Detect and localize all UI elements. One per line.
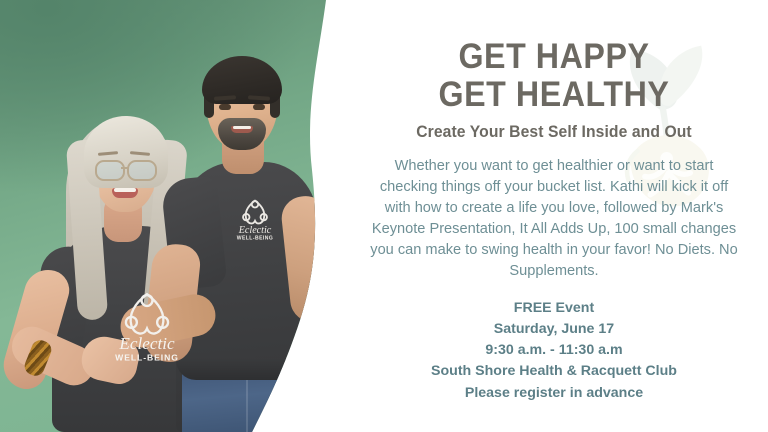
photo-curved-clip: Eclectic WELL-BEING Eclectic WELL-BEING bbox=[0, 0, 340, 432]
woman-teeth bbox=[114, 188, 136, 192]
man-eye-right bbox=[253, 104, 265, 110]
woman-eyeglass-right bbox=[127, 160, 157, 181]
photo-panel: Eclectic WELL-BEING Eclectic WELL-BEING bbox=[0, 0, 340, 432]
man-jeans-seam bbox=[246, 376, 248, 432]
shirt-logo-eclectic-wellbeing-small: Eclectic WELL-BEING bbox=[232, 196, 278, 242]
event-detail-venue: South Shore Health & Racquett Club bbox=[352, 361, 756, 382]
shirt-logo-name-small: Eclectic bbox=[238, 225, 272, 236]
event-detail-time: 9:30 a.m. - 11:30 a.m bbox=[352, 340, 756, 361]
shirt-logo-tagline: WELL-BEING bbox=[115, 353, 179, 363]
headline-line-2: GET HEALTHY bbox=[368, 76, 740, 114]
subtitle: Create Your Best Self Inside and Out bbox=[362, 123, 746, 142]
text-stack: GET HAPPY GET HEALTHY Create Your Best S… bbox=[340, 0, 768, 404]
man-jeans bbox=[182, 372, 314, 432]
event-detail-date: Saturday, June 17 bbox=[352, 319, 756, 340]
woman-eyeglass-bridge bbox=[121, 167, 129, 169]
shirt-logo-tagline-small: WELL-BEING bbox=[237, 236, 274, 242]
man-teeth bbox=[233, 126, 251, 129]
man-shirt-hem bbox=[176, 358, 318, 380]
man-eye-left bbox=[219, 104, 231, 110]
shirt-logo-eclectic-wellbeing: Eclectic WELL-BEING bbox=[108, 288, 186, 366]
event-details: FREE Event Saturday, June 17 9:30 a.m. -… bbox=[352, 298, 756, 404]
headline-line-1: GET HAPPY bbox=[458, 37, 649, 76]
body-description: Whether you want to get healthier or wan… bbox=[368, 156, 740, 282]
event-detail-price: FREE Event bbox=[352, 298, 756, 319]
man-beard bbox=[218, 118, 266, 150]
people-illustration: Eclectic WELL-BEING Eclectic WELL-BEING bbox=[0, 0, 340, 432]
event-detail-registration-note: Please register in advance bbox=[352, 383, 756, 404]
woman-eyeglass-left bbox=[95, 160, 125, 181]
page-title: GET HAPPY GET HEALTHY bbox=[368, 0, 740, 114]
promotional-poster: Eclectic WELL-BEING Eclectic WELL-BEING bbox=[0, 0, 768, 432]
content-panel: GET HAPPY GET HEALTHY Create Your Best S… bbox=[340, 0, 768, 432]
shirt-logo-name: Eclectic bbox=[118, 334, 175, 353]
